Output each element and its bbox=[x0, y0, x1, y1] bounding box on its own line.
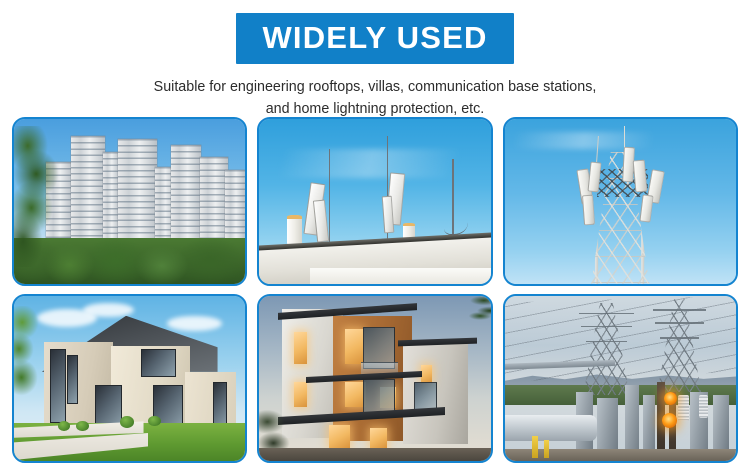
lit-window bbox=[370, 428, 386, 448]
tree bbox=[14, 306, 46, 408]
switchgear bbox=[713, 395, 729, 451]
sector-antenna bbox=[640, 194, 654, 222]
photo-modern-house-dusk bbox=[259, 296, 490, 461]
foreground-tree bbox=[14, 126, 65, 268]
ground bbox=[259, 448, 490, 461]
cloud-streak bbox=[259, 149, 490, 179]
photo-rooftop-antennas bbox=[259, 119, 490, 284]
subtitle-line-1: Suitable for engineering rooftops, villa… bbox=[100, 76, 650, 98]
tower-spire bbox=[596, 135, 599, 161]
warning-lamp bbox=[664, 392, 677, 405]
cable bbox=[444, 214, 467, 235]
building-shape bbox=[118, 139, 157, 248]
lit-window bbox=[421, 365, 431, 383]
switchgear bbox=[643, 395, 655, 458]
window bbox=[141, 349, 175, 377]
lit-window bbox=[345, 329, 364, 364]
yellow-bollard bbox=[544, 440, 549, 458]
ground bbox=[505, 449, 736, 461]
shrub bbox=[148, 416, 161, 427]
image-gallery-grid bbox=[12, 117, 738, 463]
warning-lamp bbox=[662, 413, 677, 428]
lit-window bbox=[294, 382, 307, 407]
gallery-item-high-rise-apartments[interactable] bbox=[12, 117, 247, 286]
antenna-mast bbox=[329, 149, 330, 245]
insulator-stack bbox=[678, 395, 688, 421]
header: WIDELY USED Suitable for engineering roo… bbox=[0, 0, 750, 120]
building-wall bbox=[310, 268, 490, 285]
yellow-bollard bbox=[532, 436, 538, 457]
gallery-item-electrical-substation[interactable] bbox=[503, 294, 738, 463]
photo-communication-tower bbox=[505, 119, 736, 284]
cloud bbox=[167, 316, 223, 331]
gallery-item-modern-villa[interactable] bbox=[12, 294, 247, 463]
lit-window bbox=[329, 425, 350, 448]
photo-electrical-substation bbox=[505, 296, 736, 461]
building-shape bbox=[225, 170, 246, 248]
pipeline-tank bbox=[505, 415, 598, 441]
sector-antenna-panel bbox=[313, 199, 329, 242]
gallery-item-communication-tower[interactable] bbox=[503, 117, 738, 286]
gallery-item-rooftop-antennas[interactable] bbox=[257, 117, 492, 286]
building-shape bbox=[71, 136, 106, 248]
lit-window bbox=[294, 332, 307, 363]
gallery-item-modern-house-dusk[interactable] bbox=[257, 294, 492, 463]
switchgear bbox=[597, 398, 618, 454]
window bbox=[67, 355, 78, 403]
glass-facade bbox=[363, 379, 395, 414]
photo-modern-villa bbox=[14, 296, 245, 461]
insulator-stack bbox=[699, 395, 708, 418]
page-title-badge: WIDELY USED bbox=[236, 13, 513, 64]
sector-antenna bbox=[582, 195, 595, 226]
window bbox=[50, 349, 66, 424]
antenna-radome bbox=[287, 215, 302, 245]
sector-antenna bbox=[633, 160, 647, 193]
photo-high-rise-apartments bbox=[14, 119, 245, 284]
palm-foliage bbox=[451, 296, 490, 334]
building-shape bbox=[171, 145, 201, 247]
cloud bbox=[83, 303, 134, 318]
subtitle: Suitable for engineering rooftops, villa… bbox=[0, 76, 750, 120]
shrub bbox=[58, 421, 70, 431]
building-shape bbox=[103, 152, 119, 248]
widely-used-banner: WIDELY USED Suitable for engineering roo… bbox=[0, 0, 750, 473]
